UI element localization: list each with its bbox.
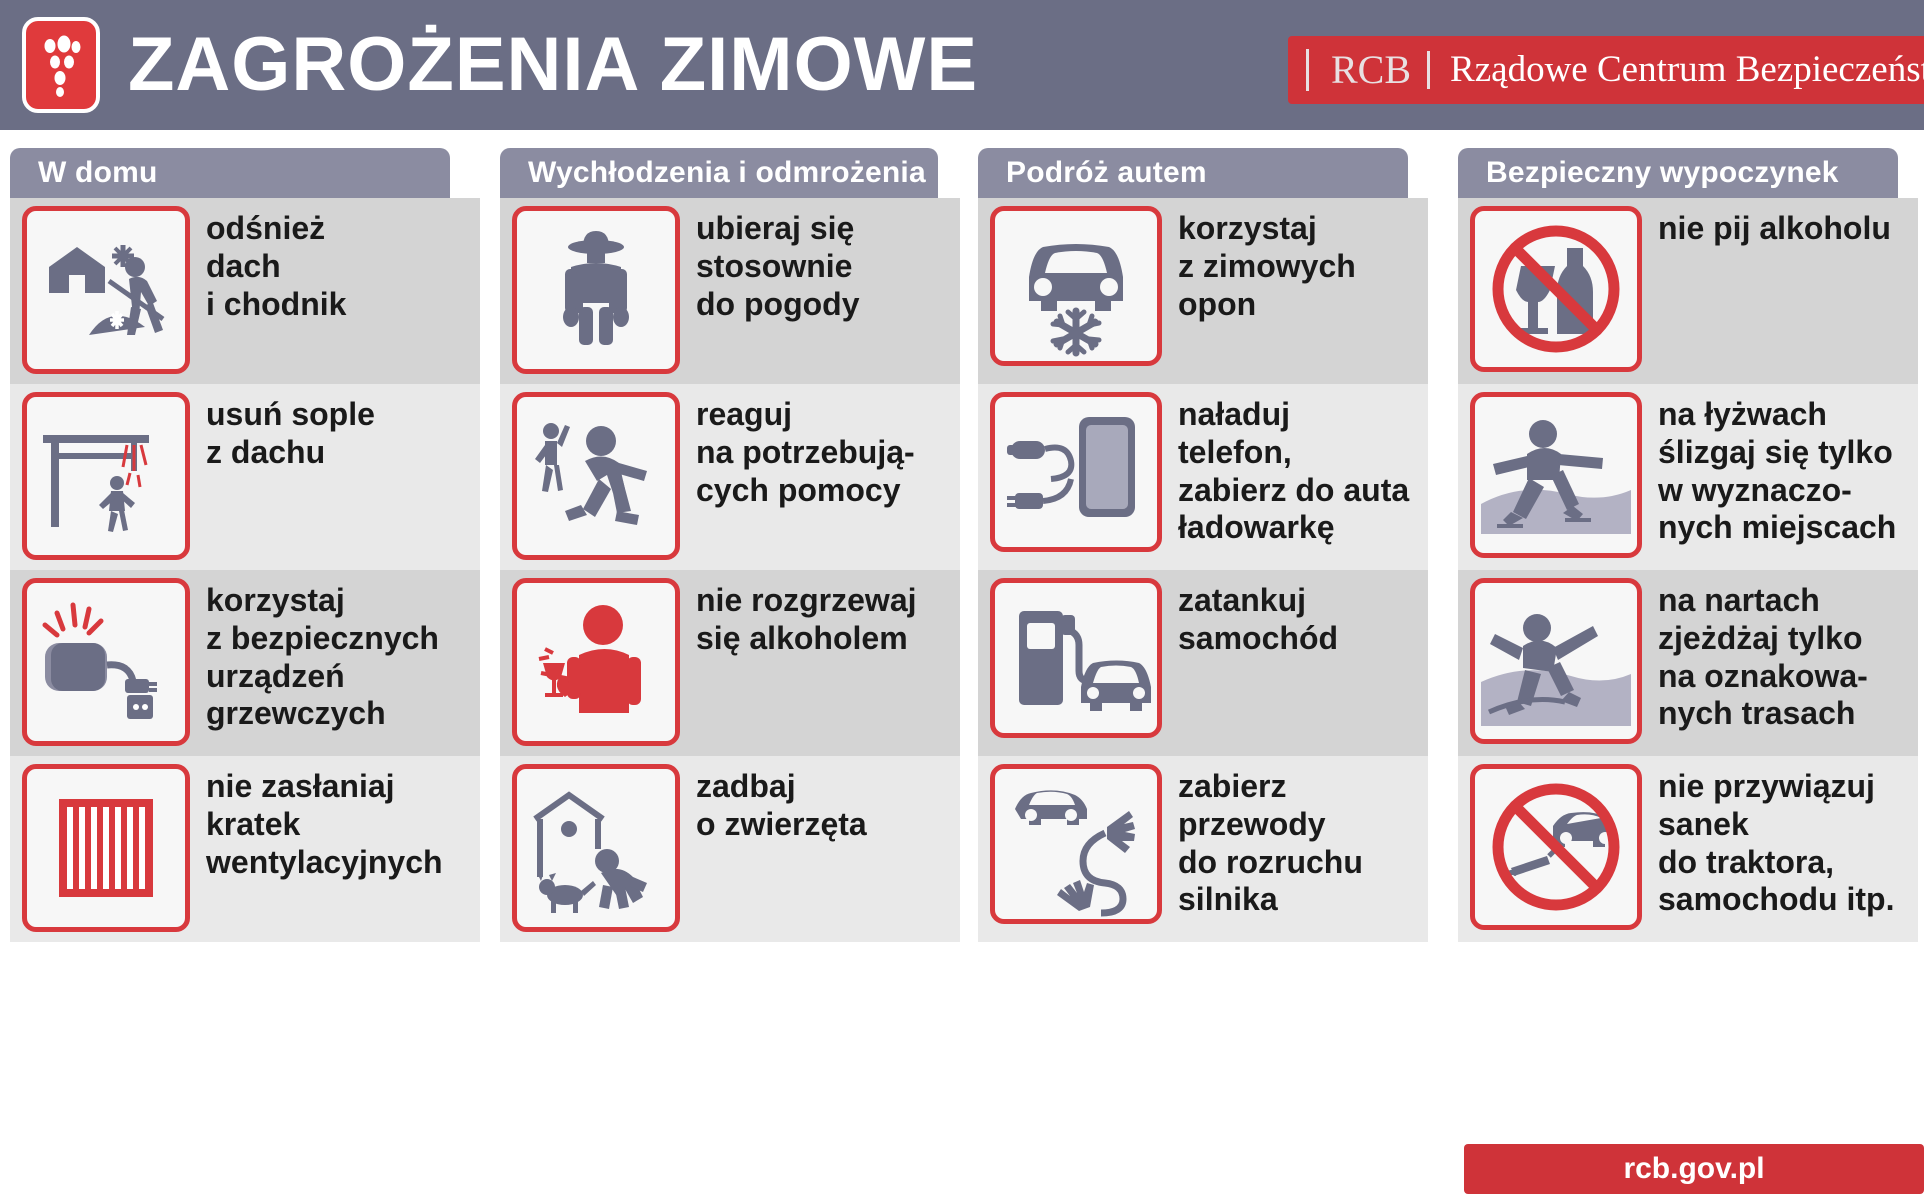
- tip-row: usuń sople z dachu: [10, 384, 480, 570]
- column-body-w-domu: odśnież dach i chodnik: [10, 198, 480, 942]
- tip-row: na nartach zjeżdżaj tylko na oznakowa- n…: [1458, 570, 1918, 756]
- page-header: ZAGROŻENIA ZIMOWE RCB Rządowe Centrum Be…: [0, 0, 1924, 130]
- pet-shelter-dog-icon: [512, 764, 680, 932]
- footer-website-url[interactable]: rcb.gov.pl: [1464, 1144, 1924, 1194]
- car-snowflake-icon: [990, 206, 1162, 366]
- tip-row: na łyżwach ślizgaj się tylko w wyznaczo-…: [1458, 384, 1918, 570]
- tip-row: naładuj telefon, zabierz do auta ładowar…: [978, 384, 1428, 570]
- tip-row: korzystaj z zimowych opon: [978, 198, 1428, 384]
- tip-text: reaguj na potrzebują- cych pomocy: [680, 392, 915, 509]
- tip-row: odśnież dach i chodnik: [10, 198, 480, 384]
- page-title: ZAGROŻENIA ZIMOWE: [128, 27, 978, 103]
- tip-text: na łyżwach ślizgaj się tylko w wyznaczo-…: [1642, 392, 1896, 547]
- tip-text: nie przywiązuj sanek do traktora, samoch…: [1642, 764, 1894, 919]
- rcb-brand-badge: RCB Rządowe Centrum Bezpieczeństwa: [1288, 36, 1924, 104]
- tip-text: korzystaj z zimowych opon: [1162, 206, 1356, 323]
- tip-text: naładuj telefon, zabierz do auta ładowar…: [1162, 392, 1409, 547]
- fuel-pump-car-icon: [990, 578, 1162, 738]
- person-hat-coat-icon: [512, 206, 680, 374]
- helping-person-icon: [512, 392, 680, 560]
- rcb-abbreviation: RCB: [1306, 49, 1427, 91]
- tip-row: korzystaj z bezpiecznych urządzeń grzewc…: [10, 570, 480, 756]
- tip-row: nie pij alkoholu: [1458, 198, 1918, 384]
- column-w-domu: W domu: [10, 130, 480, 1140]
- column-header-bezpieczny-wypoczynek: Bezpieczny wypoczynek: [1458, 148, 1898, 198]
- tip-text: na nartach zjeżdżaj tylko na oznakowa- n…: [1642, 578, 1868, 733]
- tip-row: nie rozgrzewaj się alkoholem: [500, 570, 960, 756]
- tip-row: zabierz przewody do rozruchu silnika: [978, 756, 1428, 942]
- column-podroz-autem: Podróż autem: [978, 130, 1428, 1140]
- tip-text: nie pij alkoholu: [1642, 206, 1891, 248]
- tip-text: ubieraj się stosownie do pogody: [680, 206, 860, 323]
- column-header-w-domu: W domu: [10, 148, 450, 198]
- tip-row: nie przywiązuj sanek do traktora, samoch…: [1458, 756, 1918, 942]
- tip-row: nie zasłaniaj kratek wentylacyjnych: [10, 756, 480, 942]
- phone-charger-icon: [990, 392, 1162, 552]
- tip-row: ubieraj się stosownie do pogody: [500, 198, 960, 384]
- column-body-bezpieczny-wypoczynek: nie pij alkoholu: [1458, 198, 1918, 942]
- ventilation-grate-icon: [22, 764, 190, 932]
- tip-text: nie zasłaniaj kratek wentylacyjnych: [190, 764, 443, 881]
- ice-skater-icon: [1470, 392, 1642, 558]
- house-snow-shoveling-icon: [22, 206, 190, 374]
- rcb-dice-logo-icon: [22, 17, 100, 113]
- no-sled-behind-car-icon: [1470, 764, 1642, 930]
- rcb-full-name: Rządowe Centrum Bezpieczeństwa: [1427, 51, 1924, 90]
- no-alcohol-bottle-glass-icon: [1470, 206, 1642, 372]
- column-header-podroz-autem: Podróż autem: [978, 148, 1408, 198]
- tip-row: reaguj na potrzebują- cych pomocy: [500, 384, 960, 570]
- infographic-page: ZAGROŻENIA ZIMOWE RCB Rządowe Centrum Be…: [0, 0, 1924, 1202]
- tip-text: usuń sople z dachu: [190, 392, 375, 472]
- tip-text: zabierz przewody do rozruchu silnika: [1162, 764, 1363, 919]
- column-body-podroz-autem: korzystaj z zimowych opon: [978, 198, 1428, 942]
- tip-row: zadbaj o zwierzęta: [500, 756, 960, 942]
- column-body-wychlodzenia: ubieraj się stosownie do pogody: [500, 198, 960, 942]
- tip-text: odśnież dach i chodnik: [190, 206, 346, 323]
- roof-icicles-icon: [22, 392, 190, 560]
- tip-text: korzystaj z bezpiecznych urządzeń grzewc…: [190, 578, 439, 733]
- tip-text: zadbaj o zwierzęta: [680, 764, 867, 844]
- skier-icon: [1470, 578, 1642, 744]
- column-wychlodzenia: Wychłodzenia i odmrożenia: [500, 130, 960, 1140]
- jumper-cables-icon: [990, 764, 1162, 924]
- columns-container: W domu: [0, 130, 1924, 1140]
- tip-text: nie rozgrzewaj się alkoholem: [680, 578, 917, 658]
- column-header-wychlodzenia: Wychłodzenia i odmrożenia: [500, 148, 938, 198]
- tip-text: zatankuj samochód: [1162, 578, 1338, 658]
- no-alcohol-person-icon: [512, 578, 680, 746]
- column-bezpieczny-wypoczynek: Bezpieczny wypoczynek nie pij alkoholu: [1458, 130, 1918, 1140]
- gas-heater-icon: [22, 578, 190, 746]
- tip-row: zatankuj samochód: [978, 570, 1428, 756]
